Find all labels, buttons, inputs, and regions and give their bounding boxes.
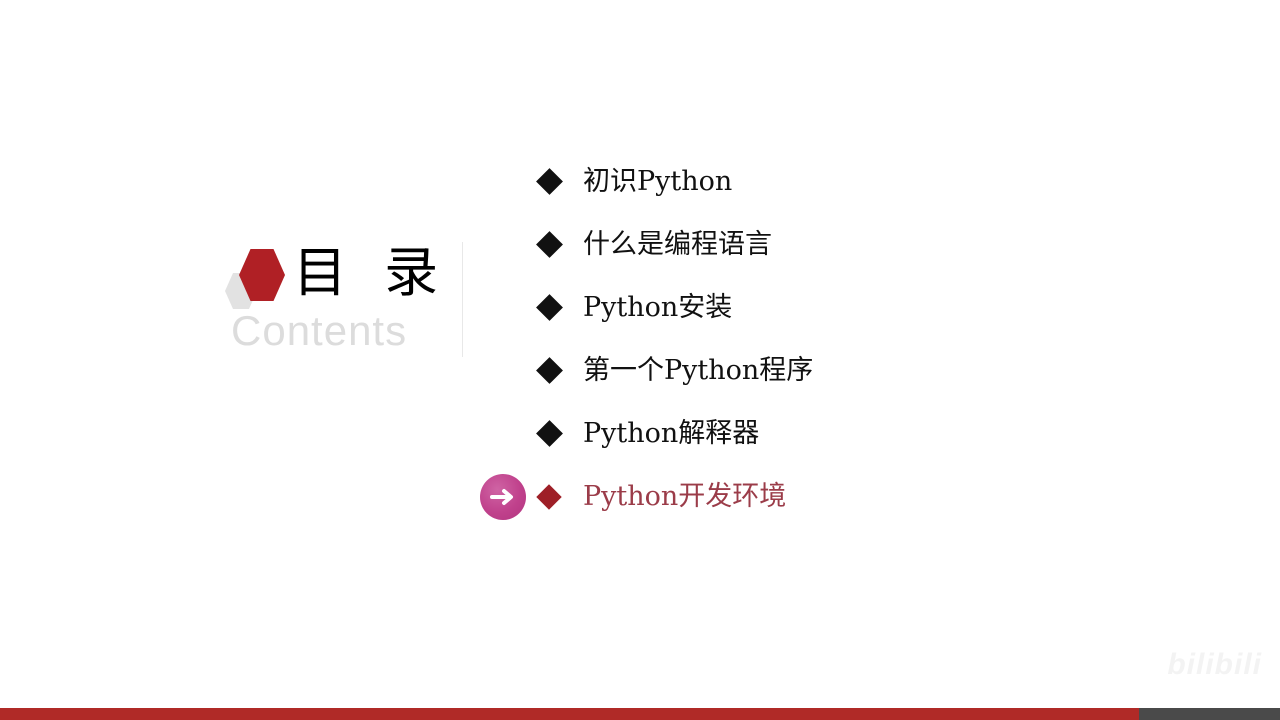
- list-item[interactable]: Python安装: [480, 276, 1040, 339]
- page-subtitle: Contents: [231, 305, 407, 357]
- arrow-right-circle-icon: [480, 474, 526, 520]
- diamond-bullet-icon: [536, 357, 563, 384]
- diamond-bullet-icon: [536, 294, 563, 321]
- list-item-active[interactable]: Python开发环境: [480, 465, 1040, 528]
- diamond-bullet-icon: [536, 231, 563, 258]
- list-item[interactable]: 初识Python: [480, 150, 1040, 213]
- diamond-bullet-icon: [536, 168, 563, 195]
- list-item[interactable]: 什么是编程语言: [480, 213, 1040, 276]
- list-item-label: 第一个Python程序: [583, 354, 813, 388]
- slide-canvas: 目 录 Contents 初识Python 什么是编程语言 Python安装 第…: [0, 0, 1280, 720]
- diamond-bullet-icon: [536, 420, 563, 447]
- bilibili-watermark: bilibili: [1167, 648, 1262, 682]
- current-section-indicator: [480, 474, 526, 520]
- list-item[interactable]: 第一个Python程序: [480, 339, 1040, 402]
- list-item[interactable]: Python解释器: [480, 402, 1040, 465]
- video-progress-bar[interactable]: [0, 708, 1280, 720]
- list-item-label: Python解释器: [583, 417, 759, 451]
- list-item-label: 初识Python: [583, 165, 732, 199]
- diamond-bullet-icon: [536, 484, 561, 509]
- hexagon-logo: [225, 249, 287, 311]
- video-progress-fill: [0, 708, 1139, 720]
- toc-heading-block: 目 录 Contents: [225, 243, 455, 358]
- page-title: 目 录: [293, 243, 448, 303]
- list-item-label: 什么是编程语言: [583, 228, 772, 262]
- list-item-label: Python安装: [583, 291, 732, 325]
- toc-list: 初识Python 什么是编程语言 Python安装 第一个Python程序 Py…: [480, 150, 1040, 528]
- vertical-divider: [462, 242, 463, 357]
- list-item-label: Python开发环境: [583, 480, 786, 514]
